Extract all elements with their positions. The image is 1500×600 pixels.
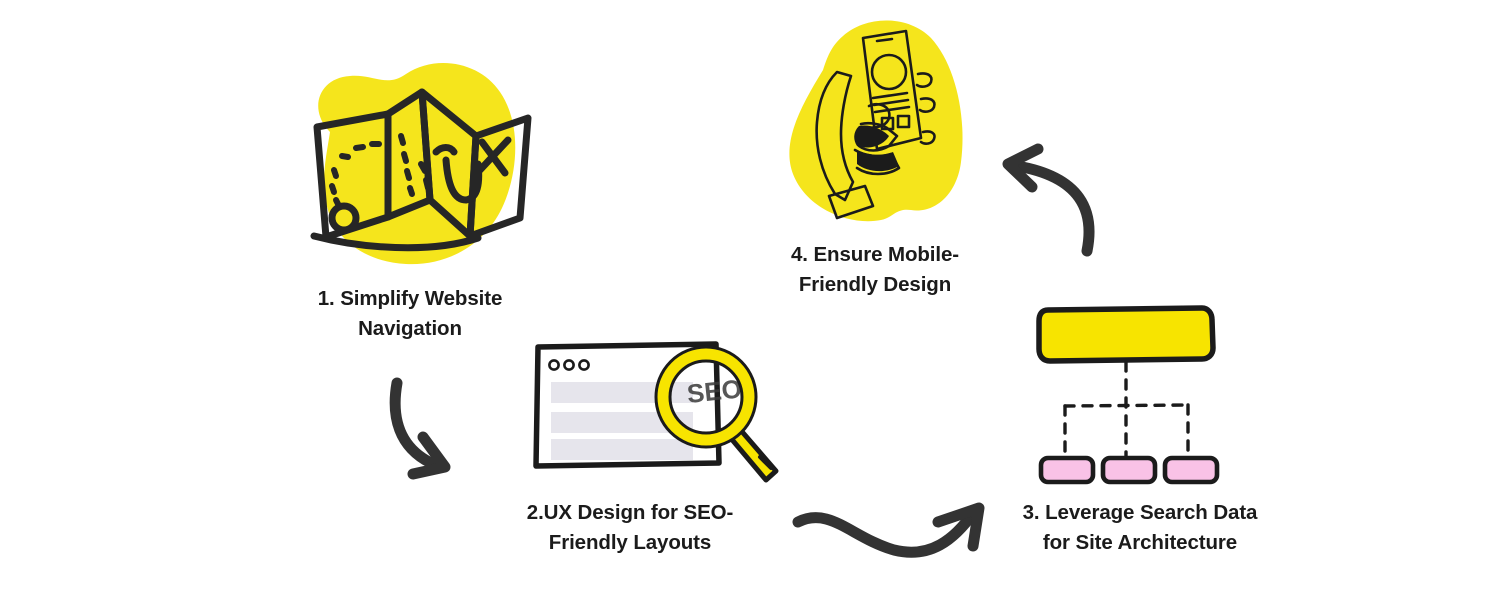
step-4-caption-line1: 4. Ensure Mobile- [791, 243, 959, 266]
step-2-caption-line2: Friendly Layouts [549, 531, 711, 554]
step-2-caption-line1: 2.UX Design for SEO- [527, 501, 733, 524]
arrow-1-shaft [395, 383, 431, 463]
step-4-caption-line2: Friendly Design [799, 273, 951, 296]
step-2-caption: 2.UX Design for SEO- Friendly Layouts [470, 498, 790, 558]
lens-seo-text: SEO [685, 373, 743, 409]
sitemap-parent-node [1039, 308, 1213, 361]
step-4-caption: 4. Ensure Mobile- Friendly Design [725, 240, 1025, 300]
step-1-caption: 1. Simplify Website Navigation [260, 284, 560, 344]
browser-window-magnifier-icon: SEO [520, 335, 800, 500]
hand-holding-phone-icon [765, 10, 985, 235]
connector-horizontal [1065, 405, 1188, 406]
step-3-caption-line1: 3. Leverage Search Data [1023, 501, 1258, 524]
step-3-caption: 3. Leverage Search Data for Site Archite… [960, 498, 1320, 558]
infographic-canvas: 1. Simplify Website Navigation SEO [0, 0, 1500, 600]
folded-map-icon [270, 40, 540, 280]
sitemap-hierarchy-icon [1030, 300, 1230, 485]
sitemap-child-node-2 [1103, 458, 1155, 482]
sitemap-child-node-3 [1165, 458, 1217, 482]
step-3-caption-line2: for Site Architecture [1043, 531, 1237, 554]
step-1-caption-line1: 1. Simplify Website [318, 287, 503, 310]
sitemap-dashed-connectors [1065, 362, 1188, 460]
step-1-caption-line2: Navigation [358, 317, 462, 340]
content-bar-3 [551, 439, 693, 460]
yellow-blob-4 [789, 21, 962, 222]
sitemap-child-nodes [1041, 458, 1217, 482]
arrow-step1-to-step2-icon [385, 375, 505, 495]
sitemap-child-node-1 [1041, 458, 1093, 482]
